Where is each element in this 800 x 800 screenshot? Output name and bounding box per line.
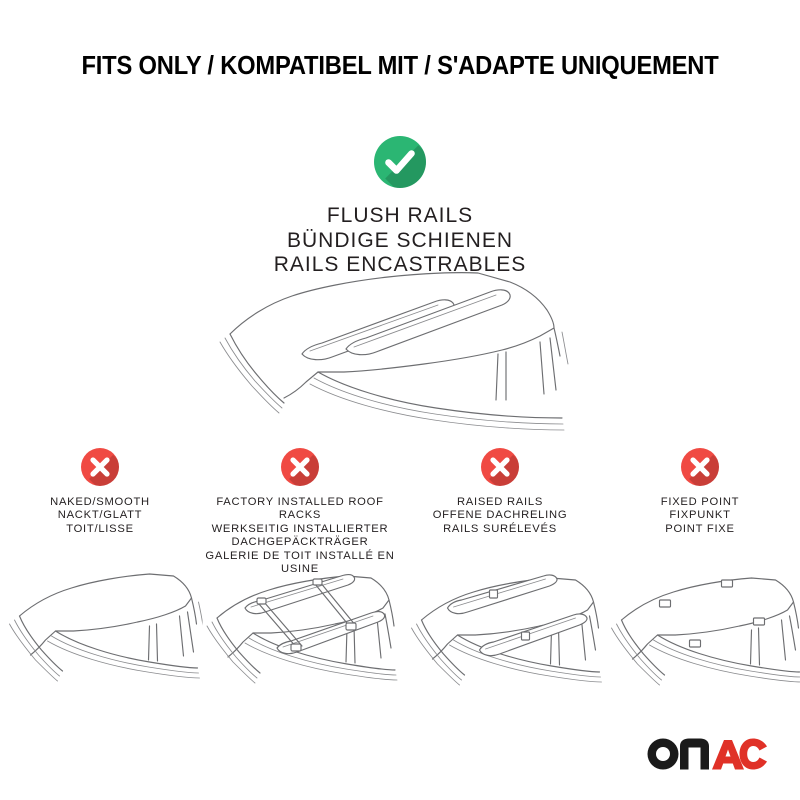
incompatible-item-fixed-point: FIXED POINT FIXPUNKT POINT FIXE: [600, 448, 800, 576]
label-line-en: FACTORY INSTALLED ROOF RACKS: [202, 496, 398, 523]
car-roof-flush-rails-illustration: [210, 262, 590, 432]
incompatible-label-naked-smooth: NAKED/SMOOTH NACKT/GLATT TOIT/LISSE: [0, 496, 200, 536]
label-line-de-1: WERKSEITIG INSTALLIERTER: [202, 523, 398, 536]
label-line-en: NAKED/SMOOTH: [2, 496, 198, 509]
label-line-fr: RAILS SURÉLEVÉS: [402, 523, 598, 536]
cross-icon: [681, 448, 719, 486]
label-line-de: FIXPUNKT: [602, 509, 798, 522]
incompatible-label-fixed-point: FIXED POINT FIXPUNKT POINT FIXE: [600, 496, 800, 536]
car-roof-fixed-point-illustration: [598, 560, 800, 695]
omac-logo: [646, 736, 770, 772]
label-line-de-2: DACHGEPÄCKTRÄGER: [202, 536, 398, 549]
page-title: FITS ONLY / KOMPATIBEL MIT / S'ADAPTE UN…: [28, 52, 772, 81]
compatible-label-line-en: FLUSH RAILS: [0, 204, 800, 229]
incompatible-item-naked-smooth: NAKED/SMOOTH NACKT/GLATT TOIT/LISSE: [0, 448, 200, 576]
incompatible-label-raised-rails: RAISED RAILS OFFENE DACHRELING RAILS SUR…: [400, 496, 600, 536]
label-line-de: NACKT/GLATT: [2, 509, 198, 522]
car-roof-factory-racks-illustration: [191, 560, 409, 695]
compatible-section: FLUSH RAILS BÜNDIGE SCHIENEN RAILS ENCAS…: [0, 136, 800, 278]
label-line-en: RAISED RAILS: [402, 496, 598, 509]
incompatible-section: NAKED/SMOOTH NACKT/GLATT TOIT/LISSE: [0, 448, 800, 576]
cross-icon: [281, 448, 319, 486]
label-line-fr: TOIT/LISSE: [2, 523, 198, 536]
incompatible-item-factory-racks: FACTORY INSTALLED ROOF RACKS WERKSEITIG …: [200, 448, 400, 576]
compatible-label-line-de: BÜNDIGE SCHIENEN: [0, 229, 800, 254]
cross-icon: [481, 448, 519, 486]
car-roof-raised-rails-illustration: [398, 560, 603, 695]
label-line-en: FIXED POINT: [602, 496, 798, 509]
label-line-de: OFFENE DACHRELING: [402, 509, 598, 522]
car-roof-naked-illustration: [0, 560, 203, 695]
label-line-fr: POINT FIXE: [602, 523, 798, 536]
cross-icon: [81, 448, 119, 486]
check-icon: [374, 136, 426, 188]
incompatible-item-raised-rails: RAISED RAILS OFFENE DACHRELING RAILS SUR…: [400, 448, 600, 576]
